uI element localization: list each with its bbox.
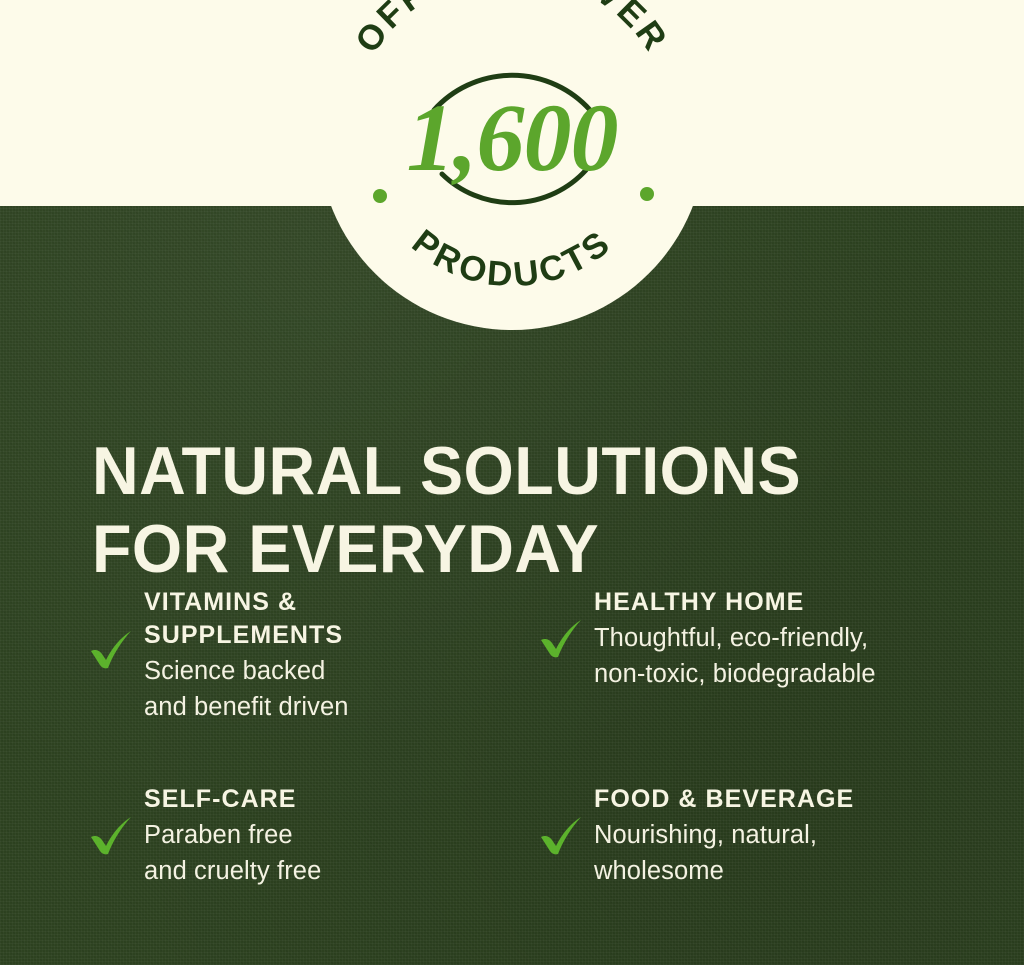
feature-description: Nourishing, natural, wholesome [594,817,988,889]
feature-item-self-care: SELF-CARE Paraben free and cruelty free [88,783,538,889]
checkmark-icon [88,816,134,856]
feature-text-block: HEALTHY HOME Thoughtful, eco-friendly, n… [594,586,988,692]
badge-dot-left-icon [373,189,387,203]
feature-title: VITAMINS & SUPPLEMENTS [144,586,538,652]
page-title: NATURAL SOLUTIONS FOR EVERYDAY [92,432,962,588]
feature-title: SELF-CARE [144,783,538,816]
badge-bottom-arc-label: PRODUCTS [405,222,619,295]
headline-line-1: NATURAL SOLUTIONS [92,432,919,510]
badge-product-count: 1,600 [407,84,618,191]
badge-dot-right-icon [640,187,654,201]
checkmark-icon [538,619,584,659]
feature-title: FOOD & BEVERAGE [594,783,988,816]
feature-list: VITAMINS & SUPPLEMENTS Science backed an… [88,586,988,889]
feature-title: HEALTHY HOME [594,586,988,619]
badge-top-arc-label: OFFERING OVER [348,0,676,60]
product-count-badge: OFFERING OVER PRODUCTS 1,600 [318,0,706,330]
feature-description: Thoughtful, eco-friendly, non-toxic, bio… [594,620,988,692]
feature-text-block: VITAMINS & SUPPLEMENTS Science backed an… [144,586,538,725]
feature-text-block: SELF-CARE Paraben free and cruelty free [144,783,538,889]
feature-item-healthy-home: HEALTHY HOME Thoughtful, eco-friendly, n… [538,586,988,725]
feature-description: Science backed and benefit driven [144,653,538,725]
feature-item-food-beverage: FOOD & BEVERAGE Nourishing, natural, who… [538,783,988,889]
headline-line-2: FOR EVERYDAY [92,510,919,588]
feature-text-block: FOOD & BEVERAGE Nourishing, natural, who… [594,783,988,889]
checkmark-icon [538,816,584,856]
promotional-poster: OFFERING OVER PRODUCTS 1,600 NATURAL SOL… [0,0,1024,965]
feature-description: Paraben free and cruelty free [144,817,538,889]
feature-item-vitamins-supplements: VITAMINS & SUPPLEMENTS Science backed an… [88,586,538,725]
checkmark-icon [88,630,134,670]
